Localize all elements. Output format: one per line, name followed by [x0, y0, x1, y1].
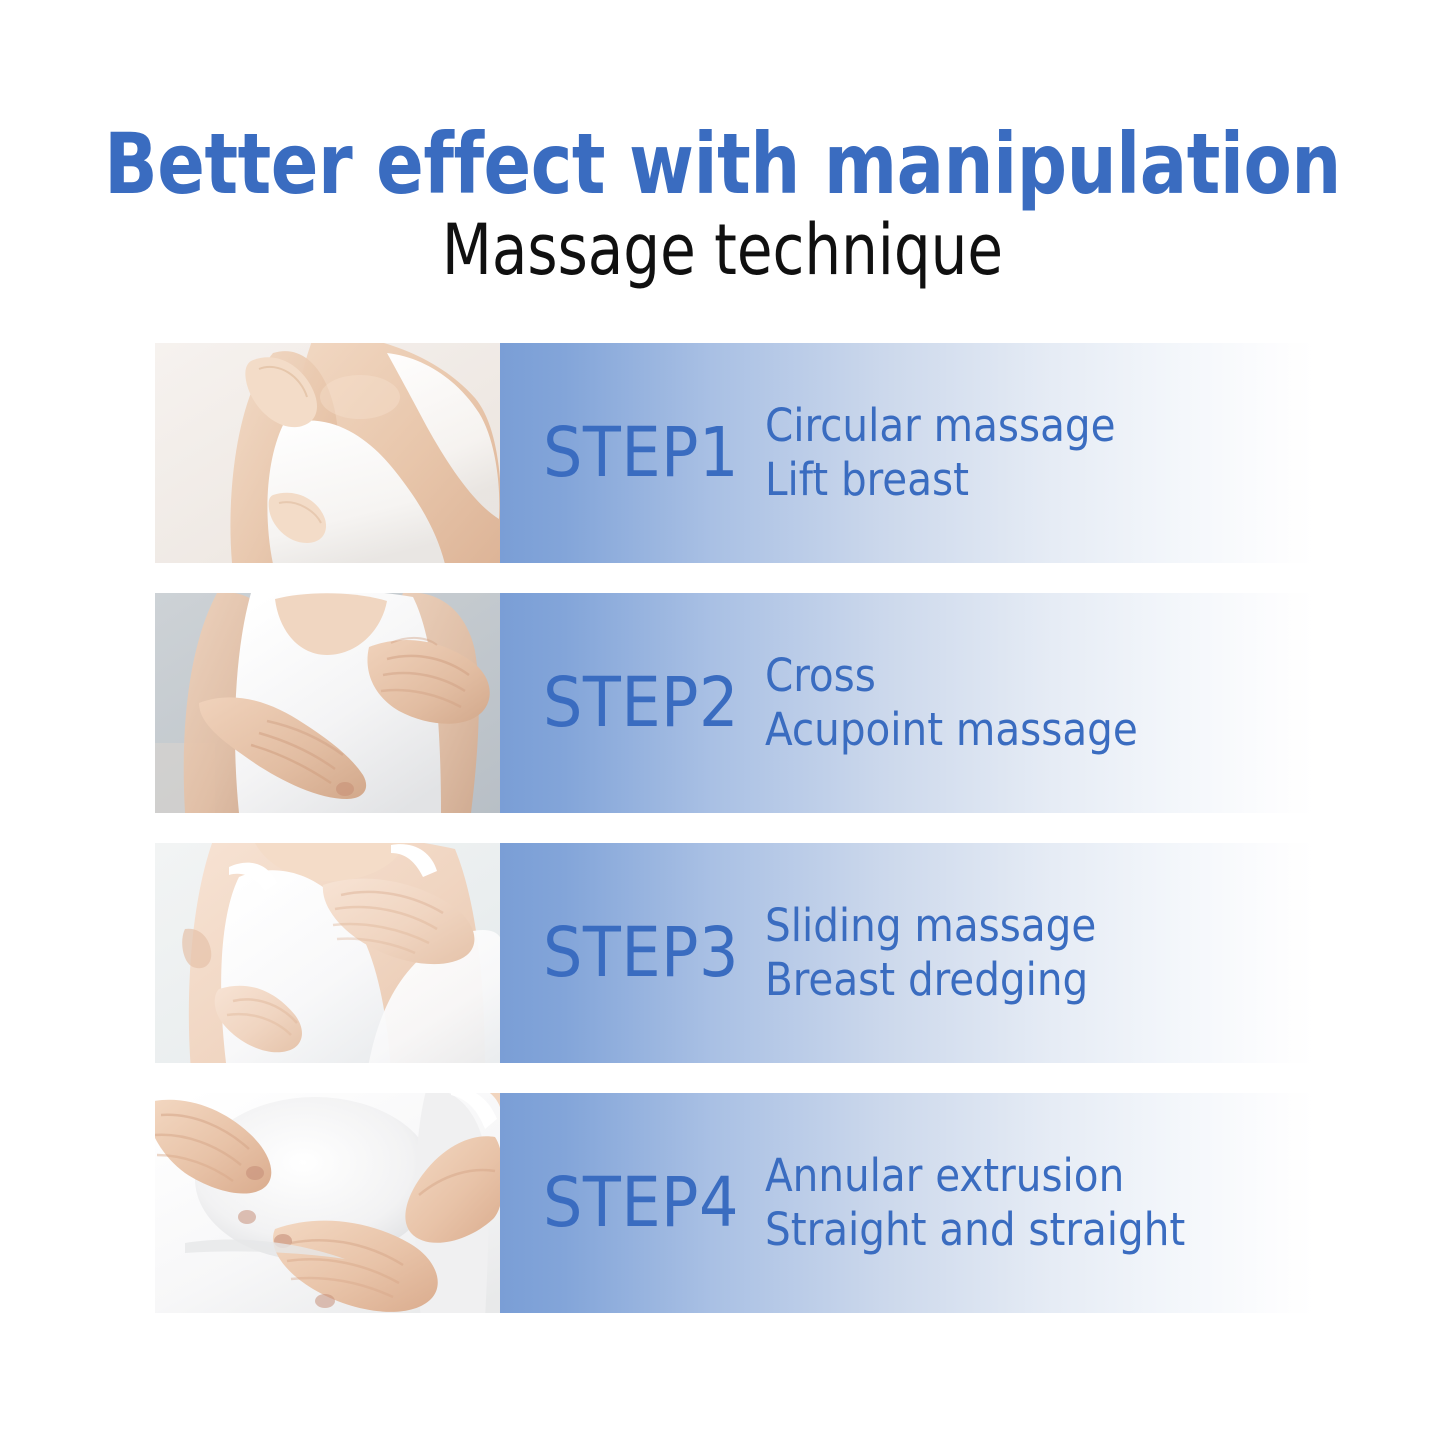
- step-description: Cross Acupoint massage: [765, 649, 1315, 757]
- sliding-massage-photo: [155, 843, 500, 1063]
- step-label: STEP2: [500, 667, 765, 739]
- page-subtitle: Massage technique: [58, 210, 1387, 290]
- step-label: STEP1: [500, 417, 765, 489]
- step-description-line1: Annular extrusion: [765, 1149, 1315, 1203]
- step-row: STEP3 Sliding massage Breast dredging: [155, 843, 1315, 1063]
- step-description-line2: Acupoint massage: [765, 703, 1315, 757]
- step-photo-3: [155, 843, 500, 1063]
- step-row: STEP4 Annular extrusion Straight and str…: [155, 1093, 1315, 1313]
- step-panel-2: STEP2 Cross Acupoint massage: [500, 593, 1315, 813]
- step-description-line2: Lift breast: [765, 453, 1315, 507]
- step-description-line2: Breast dredging: [765, 953, 1315, 1007]
- step-panel-4: STEP4 Annular extrusion Straight and str…: [500, 1093, 1315, 1313]
- step-label: STEP4: [500, 1167, 765, 1239]
- step-label: STEP3: [500, 917, 765, 989]
- hands-cross-acupoint-photo: [155, 593, 500, 813]
- step-row: STEP1 Circular massage Lift breast: [155, 343, 1315, 563]
- step-description: Sliding massage Breast dredging: [765, 899, 1315, 1007]
- step-panel-3: STEP3 Sliding massage Breast dredging: [500, 843, 1315, 1063]
- step-row: STEP2 Cross Acupoint massage: [155, 593, 1315, 813]
- step-description-line1: Circular massage: [765, 399, 1315, 453]
- step-photo-1: [155, 343, 500, 563]
- step-description-line1: Cross: [765, 649, 1315, 703]
- step-description-line2: Straight and straight: [765, 1203, 1315, 1257]
- step-description: Annular extrusion Straight and straight: [765, 1149, 1315, 1257]
- step-photo-4: [155, 1093, 500, 1313]
- page-title: Better effect with manipulation: [51, 118, 1395, 210]
- page-header: Better effect with manipulation Massage …: [0, 0, 1445, 320]
- woman-lifting-breast-photo: [155, 343, 500, 563]
- step-photo-2: [155, 593, 500, 813]
- steps-list: STEP1 Circular massage Lift breast: [155, 343, 1315, 1313]
- step-description: Circular massage Lift breast: [765, 399, 1315, 507]
- annular-extrusion-photo: [155, 1093, 500, 1313]
- step-panel-1: STEP1 Circular massage Lift breast: [500, 343, 1315, 563]
- step-description-line1: Sliding massage: [765, 899, 1315, 953]
